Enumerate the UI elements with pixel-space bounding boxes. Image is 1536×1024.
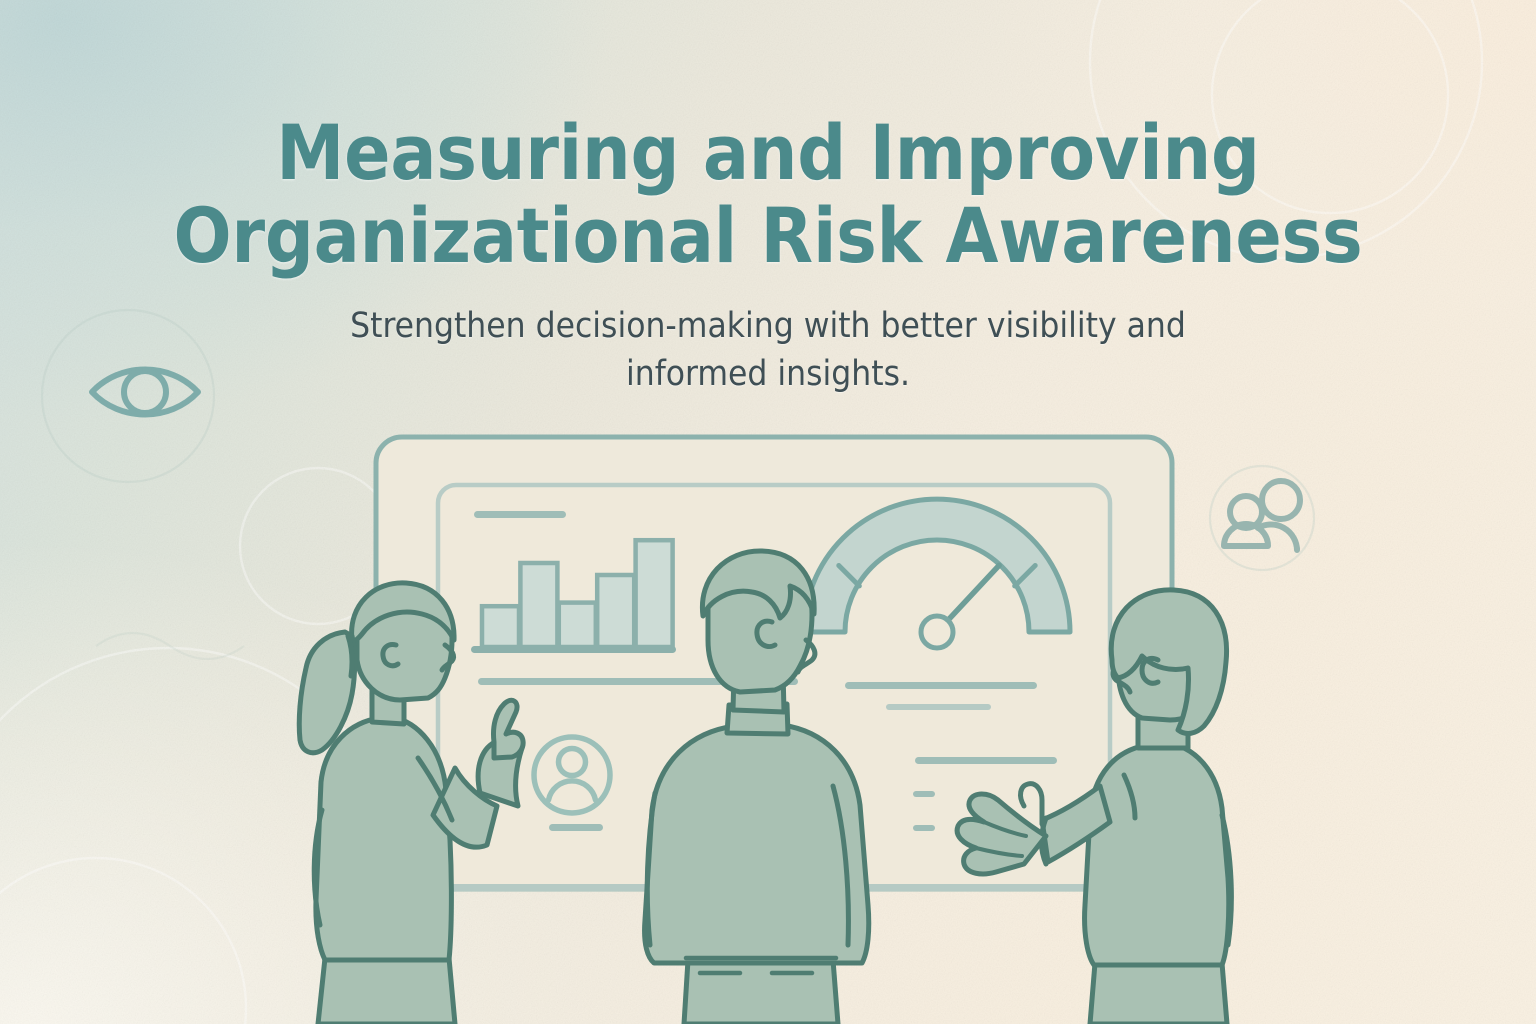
figure-center <box>645 551 869 1024</box>
hero-text-block: Measuring and Improving Organizational R… <box>0 0 1536 398</box>
figure-right-torso <box>1085 743 1229 965</box>
page-subtitle-line-2: informed insights. <box>0 350 1536 398</box>
figure-left-torso <box>316 717 452 960</box>
page-title: Measuring and Improving Organizational R… <box>0 0 1536 278</box>
hero-banner: Measuring and Improving Organizational R… <box>0 0 1536 1024</box>
page-subtitle-line-1: Strengthen decision-making with better v… <box>0 302 1536 350</box>
figure-left-skirt <box>318 958 455 1024</box>
page-subtitle: Strengthen decision-making with better v… <box>0 278 1536 399</box>
figure-center-trousers <box>684 960 838 1024</box>
figure-presenter-left <box>299 583 523 1024</box>
figure-left-hand-pointing <box>493 700 523 758</box>
figure-center-torso <box>645 725 869 963</box>
page-title-line-2: Organizational Risk Awareness <box>0 195 1536 278</box>
page-title-line-1: Measuring and Improving <box>0 112 1536 195</box>
figure-right-hand <box>957 794 1046 874</box>
figure-right-skirt <box>1090 963 1227 1024</box>
figure-right <box>957 590 1231 1024</box>
